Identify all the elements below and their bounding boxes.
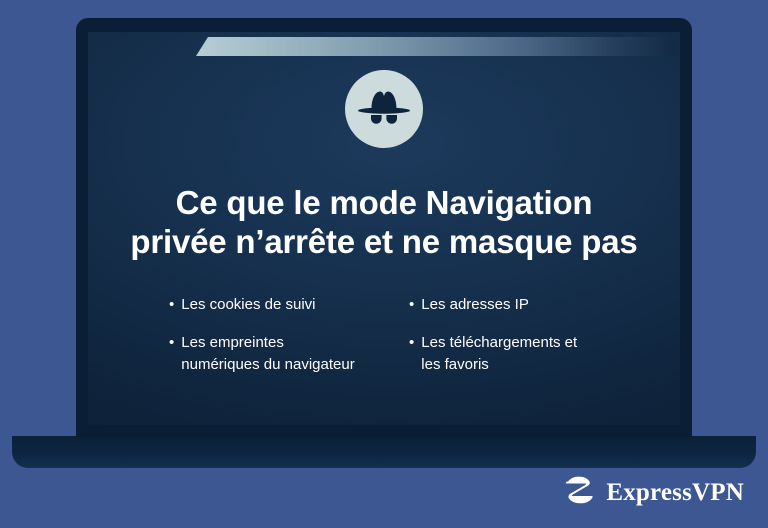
laptop-screen: Ce que le mode Navigation privée n’arrêt… <box>88 32 680 425</box>
page-title-line-1: Ce que le mode Navigation <box>118 184 650 223</box>
list-item-label: Les cookies de suivi <box>181 294 359 315</box>
brand-logo: ExpressVPN <box>562 475 744 510</box>
bullet-dot-icon: • <box>409 332 414 353</box>
page-title-line-2: privée n’arrête et ne masque pas <box>118 223 650 262</box>
page-title: Ce que le mode Navigation privée n’arrêt… <box>118 184 650 262</box>
bullet-dot-icon: • <box>409 294 414 315</box>
expressvpn-e-logo-icon <box>562 475 596 510</box>
incognito-icon-container <box>88 70 680 148</box>
bullet-dot-icon: • <box>169 332 174 353</box>
list-item-label: Les adresses IP <box>421 294 599 315</box>
incognito-icon <box>345 70 423 148</box>
list-item: • Les téléchargements et les favoris <box>409 332 599 375</box>
list-item-label: Les empreintes numériques du navigateur <box>181 332 359 375</box>
laptop-base <box>12 436 756 468</box>
list-item-label: Les téléchargements et les favoris <box>421 332 599 375</box>
list-item: • Les cookies de suivi <box>169 294 359 315</box>
poster-canvas: Ce que le mode Navigation privée n’arrêt… <box>0 0 768 528</box>
list-item: • Les adresses IP <box>409 294 599 315</box>
bullet-columns: • Les cookies de suivi • Les empreintes … <box>88 294 680 392</box>
bullet-dot-icon: • <box>169 294 174 315</box>
bullet-column-right: • Les adresses IP • Les téléchargements … <box>409 294 599 392</box>
list-item: • Les empreintes numériques du navigateu… <box>169 332 359 375</box>
brand-name: ExpressVPN <box>606 479 744 507</box>
bullet-column-left: • Les cookies de suivi • Les empreintes … <box>169 294 359 392</box>
decorative-gradient-bar <box>196 37 676 56</box>
